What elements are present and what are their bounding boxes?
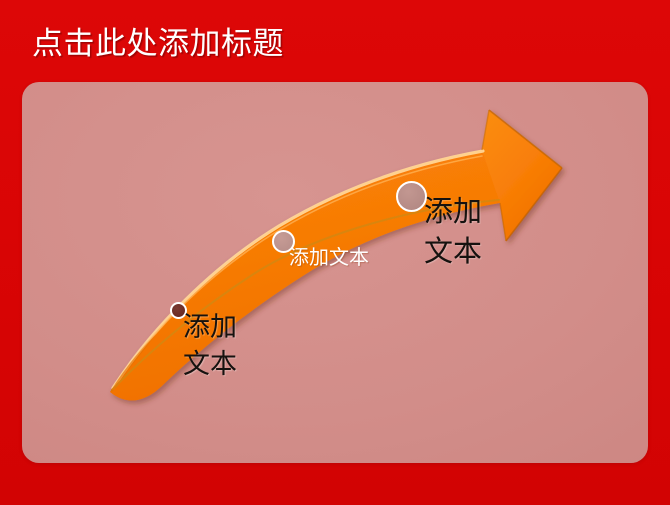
- step-marker-3[interactable]: [396, 181, 427, 212]
- page-title[interactable]: 点击此处添加标题: [32, 24, 632, 64]
- content-panel[interactable]: [22, 82, 648, 463]
- step-label-2[interactable]: 添加文本: [289, 245, 369, 271]
- step-label-1[interactable]: 添加 文本: [183, 309, 237, 383]
- step-label-3[interactable]: 添加 文本: [424, 192, 482, 272]
- slide-canvas: 点击此处添加标题: [0, 0, 670, 505]
